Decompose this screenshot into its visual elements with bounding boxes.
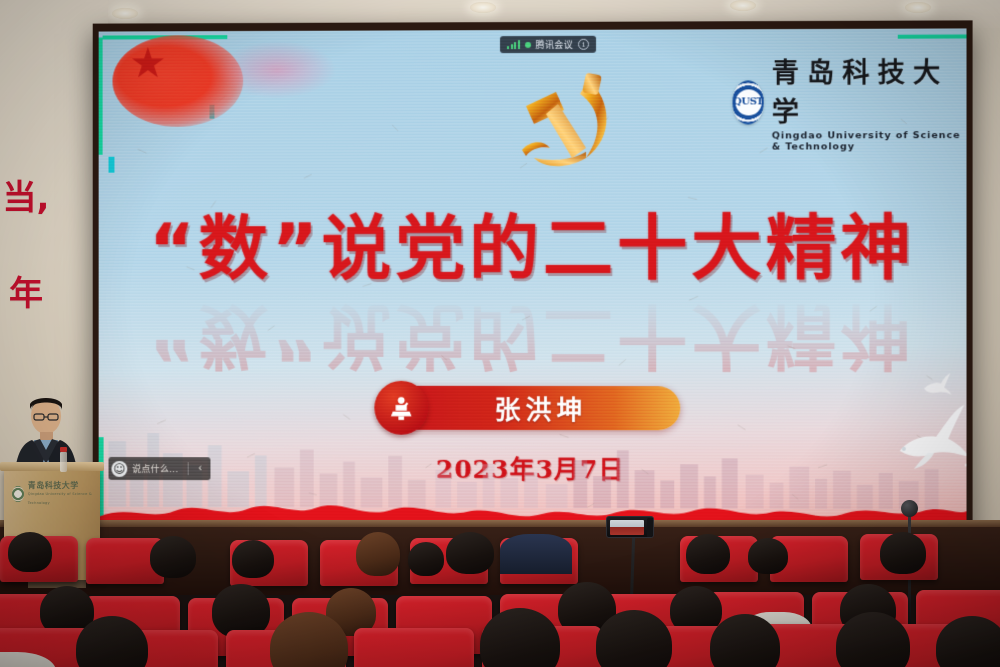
audience-member [150, 536, 196, 578]
podium-name-cn: 青岛科技大学 [28, 481, 79, 490]
led-edge-artifact [898, 34, 967, 38]
ceiling-downlight [112, 8, 138, 19]
ceiling-downlight [470, 2, 496, 13]
podium-nameplate: 青岛科技大学 Qingdao University of Science & T… [12, 484, 92, 504]
university-name-cn: 青岛科技大学 [772, 51, 967, 130]
university-name-en: Qingdao University of Science & Technolo… [772, 130, 967, 153]
audience-member [500, 534, 572, 574]
audience-member [8, 532, 52, 572]
audience-member [446, 532, 494, 574]
chevron-left-icon[interactable]: ‹ [193, 463, 207, 474]
floating-chat-widget[interactable]: ☺ 说点什么... ‹ [109, 457, 211, 480]
audience-member [356, 532, 400, 576]
info-circle-icon[interactable]: i [578, 39, 589, 50]
audience-member [880, 532, 926, 574]
slide-title: “数”说党的二十大精神 [99, 205, 967, 292]
led-video-wall: 腾讯会议 i QUST 青岛科技大学 Qingdao University of… [93, 20, 973, 561]
water-bottle-icon [60, 452, 67, 472]
meeting-app-label: 腾讯会议 [535, 38, 573, 51]
audience-member [232, 540, 274, 578]
qust-podium-emblem-icon [12, 486, 24, 502]
divider [187, 462, 188, 475]
microphone-head [901, 500, 918, 517]
lecturer-glyph [386, 393, 416, 423]
audience-member [748, 538, 788, 574]
audience-member [408, 542, 444, 576]
seal-monogram: QUST [735, 89, 761, 115]
wall-trim [0, 520, 1000, 527]
peace-dove-icon [920, 372, 954, 398]
pink-glow-decoration [217, 41, 336, 99]
audience [0, 532, 1000, 667]
podium-name-en: Qingdao University of Science & Technolo… [28, 490, 92, 508]
wall-banner-left: 当, 年 [0, 150, 52, 365]
presentation-slide: 腾讯会议 i QUST 青岛科技大学 Qingdao University of… [99, 28, 967, 555]
wall-banner-char-2: 年 [0, 246, 52, 342]
chat-input-placeholder[interactable]: 说点什么... [132, 462, 182, 475]
audience-member [686, 534, 730, 574]
emoji-face-icon[interactable]: ☺ [111, 461, 127, 477]
ceiling-downlight [730, 0, 756, 11]
wall-banner-char-1: 当, [0, 150, 52, 246]
podium-top [0, 462, 104, 471]
qust-university-seal-icon: QUST [733, 80, 764, 124]
ceiling-downlight [905, 2, 931, 13]
status-dot [525, 41, 531, 47]
signal-bars-icon [507, 40, 519, 49]
led-edge-artifact [99, 37, 103, 154]
theater-seat [354, 628, 474, 667]
led-edge-artifact [109, 157, 115, 173]
slide-title-reflection: “数”说党的二十大精神 [99, 292, 967, 379]
cpc-hammer-sickle-emblem-icon [500, 66, 628, 186]
podium-university-name: 青岛科技大学 Qingdao University of Science & T… [28, 481, 92, 508]
lecture-hall-scene: 当, 年 [0, 0, 1000, 667]
tencent-meeting-status-pill[interactable]: 腾讯会议 i [500, 36, 596, 53]
university-logo: QUST 青岛科技大学 Qingdao University of Scienc… [733, 51, 967, 153]
